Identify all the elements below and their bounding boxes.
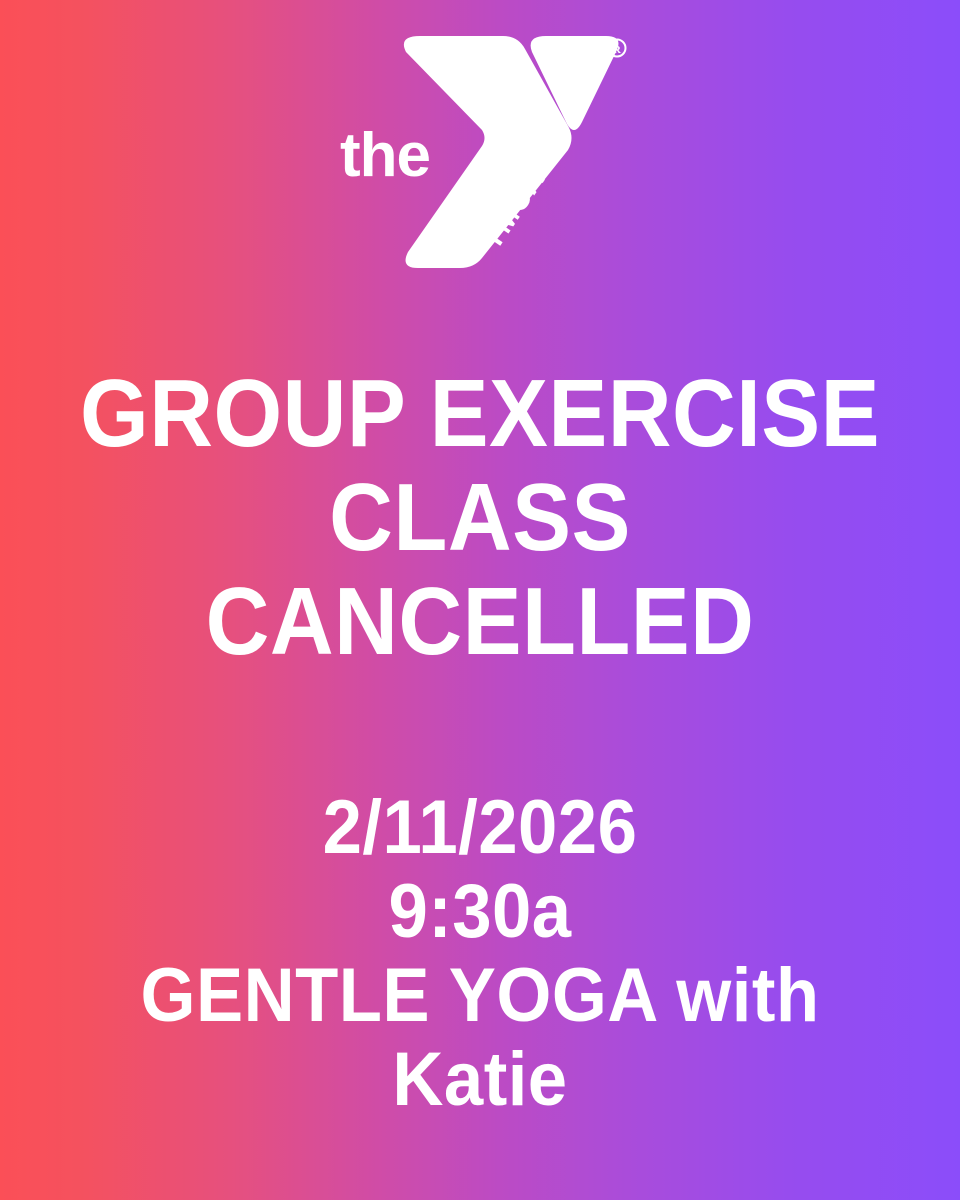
ymca-logo-block: the YMCA R bbox=[0, 30, 960, 280]
headline: GROUP EXERCISE CLASS CANCELLED bbox=[0, 362, 960, 674]
ymca-logo-icon: the YMCA R bbox=[330, 30, 630, 270]
svg-text:R: R bbox=[613, 44, 622, 56]
ymca-logo: the YMCA R bbox=[330, 30, 630, 270]
headline-line-2: CLASS bbox=[38, 466, 921, 570]
class-time: 9:30a bbox=[34, 870, 927, 954]
logo-the-text: the bbox=[340, 121, 430, 190]
class-date: 2/11/2026 bbox=[34, 786, 927, 870]
class-instructor: Katie bbox=[34, 1038, 927, 1122]
class-details: 2/11/2026 9:30a GENTLE YOGA with Katie bbox=[0, 786, 960, 1122]
headline-line-1: GROUP EXERCISE bbox=[38, 362, 921, 466]
headline-line-3: CANCELLED bbox=[38, 570, 921, 674]
class-name: GENTLE YOGA with bbox=[34, 954, 927, 1038]
cancellation-poster: the YMCA R GROUP EXERCISE CLASS CANCELLE… bbox=[0, 0, 960, 1200]
